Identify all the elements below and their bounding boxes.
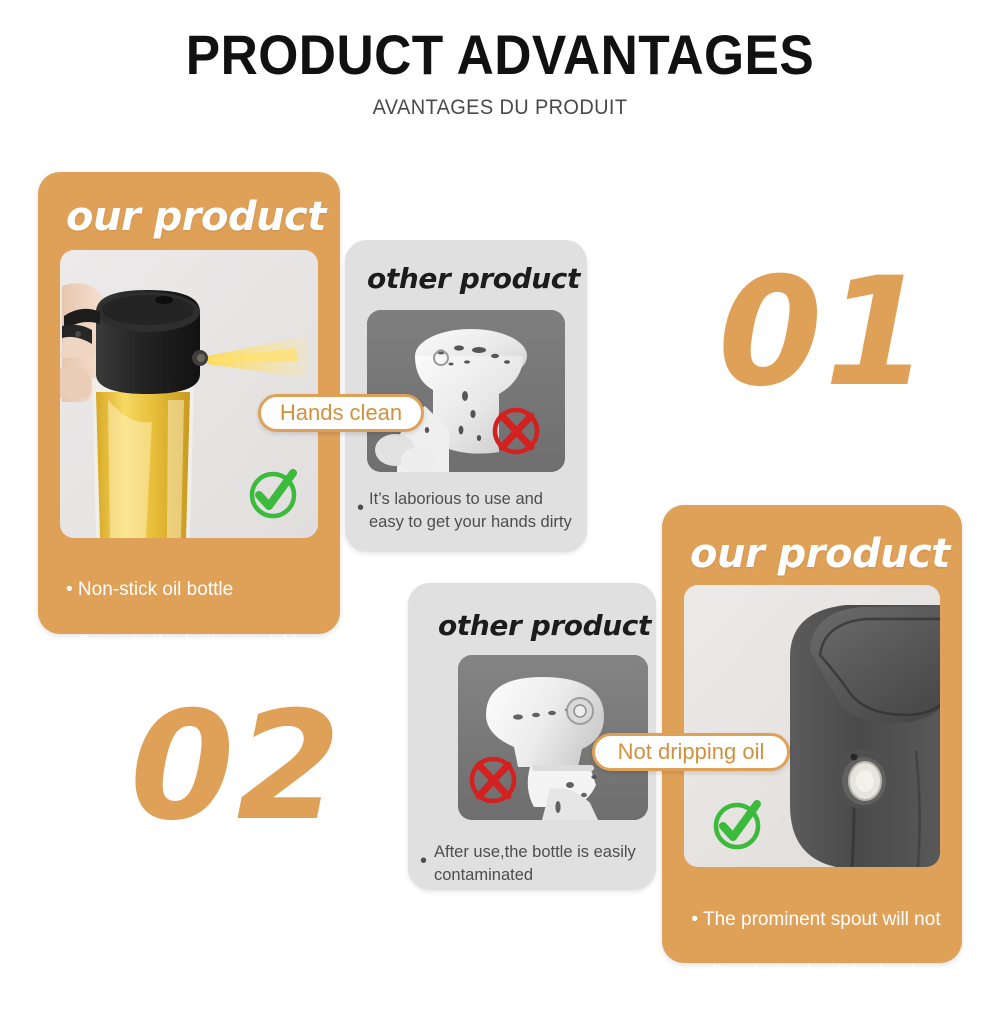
page-title: PRODUCT ADVANTAGES	[40, 22, 960, 87]
our-product-heading-1: our product	[66, 194, 326, 240]
other-product-bullet-dot-2: •	[420, 851, 427, 871]
bullet-item: • Press to the bottom quickly	[66, 631, 336, 658]
red-cross-icon	[487, 402, 545, 460]
our-product-photo-2	[684, 585, 940, 867]
other-product-photo-1	[367, 310, 565, 472]
section-number-02: 02	[130, 692, 343, 842]
green-check-icon	[706, 793, 768, 855]
other-product-bullet-dot-1: •	[357, 498, 364, 518]
red-cross-icon	[464, 751, 522, 809]
other-product-caption-1: It’s laborious to use and easy to get yo…	[369, 488, 584, 535]
page-subtitle: AVANTAGES DU PRODUIT	[25, 96, 975, 120]
our-product-heading-2: our product	[690, 531, 950, 577]
other-product-caption-2: After use,the bottle is easily contamina…	[434, 841, 654, 888]
bullet-item: • Non-stick oil bottle	[66, 577, 336, 604]
green-check-icon	[242, 462, 304, 524]
section-number-01: 01	[718, 258, 931, 408]
not-dripping-oil-badge: Not dripping oil	[592, 733, 790, 771]
bullet-item: • The prominent spout will not	[680, 907, 952, 934]
other-product-heading-1: other product	[367, 262, 580, 295]
other-product-heading-2: other product	[438, 609, 651, 642]
our-product-bullets-2: • The prominent spout will not dirty the…	[680, 880, 952, 1015]
hands-clean-badge: Hands clean	[258, 394, 424, 432]
bullet-item: dirty the body of the bottle	[680, 961, 952, 988]
